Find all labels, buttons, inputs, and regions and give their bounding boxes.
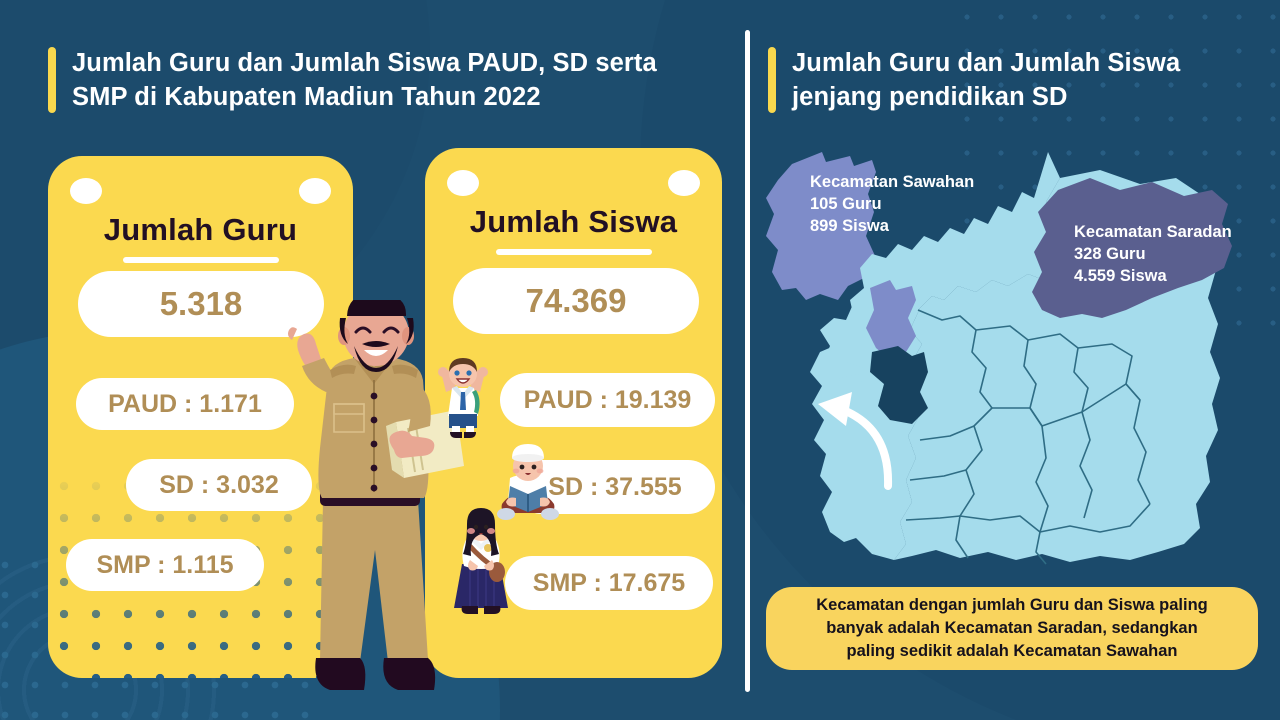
saradan-teachers: 328 Guru [1074,244,1232,266]
caption-line-1: Kecamatan dengan jumlah Guru dan Siswa p… [816,594,1208,617]
student-paud-illustration-icon [432,358,494,440]
vertical-divider [745,30,750,692]
card-header-siswa: Jumlah Siswa [425,204,722,255]
card-punch-hole-left [70,178,102,204]
card-punch-hole-left [447,170,479,196]
map-label-saradan: Kecamatan Saradan 328 Guru 4.559 Siswa [1074,222,1232,287]
title-accent-bar [768,47,776,113]
siswa-total-pill: 74.369 [453,268,699,334]
sawahan-students: 899 Siswa [810,216,974,238]
map-label-sawahan: Kecamatan Sawahan 105 Guru 899 Siswa [810,172,974,237]
left-title-text: Jumlah Guru dan Jumlah Siswa PAUD, SD se… [72,47,657,114]
right-panel-title: Jumlah Guru dan Jumlah Siswa jenjang pen… [768,47,1238,114]
left-title-line-2: SMP di Kabupaten Madiun Tahun 2022 [72,83,541,111]
guru-paud-pill: PAUD : 1.171 [76,378,294,430]
card-punch-hole-right [668,170,700,196]
card-heading-underline [496,249,652,255]
card-punch-hole-right [299,178,331,204]
sawahan-name: Kecamatan Sawahan [810,172,974,194]
guru-smp-pill: SMP : 1.115 [66,539,264,591]
siswa-smp-pill: SMP : 17.675 [505,556,713,610]
title-accent-bar [48,47,56,113]
card-heading-label: Jumlah Siswa [425,204,722,240]
right-title-line-1: Jumlah Guru dan Jumlah Siswa [792,49,1180,77]
caption-line-2: banyak adalah Kecamatan Saradan, sedangk… [826,617,1197,640]
left-title-line-1: Jumlah Guru dan Jumlah Siswa PAUD, SD se… [72,49,657,77]
left-panel-title: Jumlah Guru dan Jumlah Siswa PAUD, SD se… [48,47,738,114]
right-title-text: Jumlah Guru dan Jumlah Siswa jenjang pen… [792,47,1180,114]
map-caption-box: Kecamatan dengan jumlah Guru dan Siswa p… [766,587,1258,670]
saradan-name: Kecamatan Saradan [1074,222,1232,244]
card-heading-label: Jumlah Guru [48,212,353,248]
sawahan-teachers: 105 Guru [810,194,974,216]
siswa-paud-pill: PAUD : 19.139 [500,373,715,427]
right-title-line-2: jenjang pendidikan SD [792,83,1068,111]
card-heading-underline [123,257,279,263]
caption-line-3: paling sedikit adalah Kecamatan Sawahan [846,640,1177,663]
saradan-students: 4.559 Siswa [1074,266,1232,288]
student-smp-illustration-icon [450,508,512,618]
card-header-guru: Jumlah Guru [48,212,353,263]
